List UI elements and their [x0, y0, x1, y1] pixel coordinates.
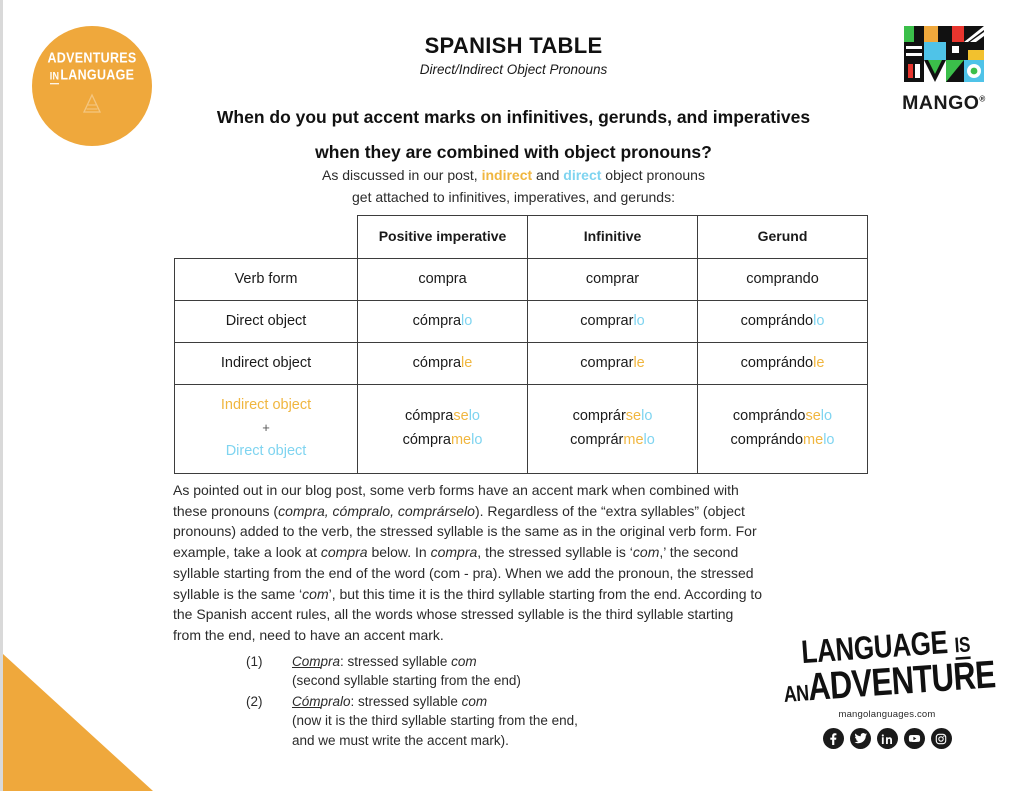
word-segment: lo	[813, 313, 824, 329]
example-note: (second syllable starting from the end)	[292, 671, 521, 690]
table-cell: comprando	[698, 258, 868, 300]
mango-word-text: MANGO	[902, 92, 979, 114]
word-segment: comprár	[570, 432, 623, 448]
word-segment: lo	[641, 408, 652, 424]
mango-wordmark: MANGO®	[890, 92, 998, 115]
table-cell: comprándoselocomprándomelo	[698, 384, 868, 473]
table-corner-cell	[175, 216, 358, 259]
word-segment: le	[813, 355, 824, 371]
table-cell: comprándole	[698, 342, 868, 384]
word-segment: le	[461, 355, 472, 371]
body-s3: below. In	[368, 544, 431, 560]
word-segment: comprar	[580, 355, 633, 371]
brand-line-2: ANADVENTURE	[782, 657, 994, 707]
row-label: Indirect object	[175, 342, 358, 384]
example-number: (2)	[246, 692, 292, 749]
brand-lockup: LANGUAGE IS ANADVENTURE mangolanguages.c…	[782, 639, 992, 749]
question-line-2: when they are combined with object prono…	[315, 142, 712, 162]
brand-tagline: LANGUAGE IS ANADVENTURE	[780, 625, 994, 708]
word-segment: comprar	[580, 313, 633, 329]
example-note-2: and we must write the accent mark).	[292, 731, 578, 750]
word-segment: me	[803, 432, 823, 448]
example-body: Compra: stressed syllable com(second syl…	[292, 652, 521, 690]
example-word: Cómpralo	[292, 694, 351, 709]
social-links	[782, 728, 992, 749]
word-segment: lo	[469, 408, 480, 424]
page-title: SPANISH TABLE	[3, 33, 1024, 59]
word-segment: cómpra	[413, 313, 461, 329]
word-segment: lo	[461, 313, 472, 329]
table-row-combined: Indirect object+Direct objectcómpraseloc…	[175, 384, 868, 473]
word-segment: cómpra	[413, 355, 461, 371]
page-subtitle: Direct/Indirect Object Pronouns	[3, 62, 1024, 77]
intro-paragraph: As discussed in our post, indirect and d…	[143, 165, 884, 208]
example-number: (1)	[246, 652, 292, 690]
example-item: (1)Compra: stressed syllable com(second …	[246, 652, 746, 690]
table-row: Direct objectcómpralocomprarlocomprándol…	[175, 300, 868, 342]
word-segment: se	[626, 408, 641, 424]
brand-website-url[interactable]: mangolanguages.com	[782, 709, 992, 720]
header-label: Positive imperative	[379, 228, 507, 244]
intro-indirect-keyword: indirect	[482, 167, 533, 183]
example-after: : stressed syllable	[351, 694, 462, 709]
registered-mark: ®	[979, 95, 985, 104]
twitter-icon[interactable]	[850, 728, 871, 749]
word-segment: cómpra	[405, 408, 453, 424]
word-segment: comprando	[746, 271, 819, 287]
word-segment: comprándo	[733, 408, 806, 424]
word-segment: comprár	[573, 408, 626, 424]
explanation-paragraph: As pointed out in our blog post, some ve…	[173, 480, 763, 646]
linkedin-icon[interactable]	[877, 728, 898, 749]
table-header-positive-imperative: Positive imperative	[358, 216, 528, 259]
label-plus: +	[262, 420, 270, 435]
table-cell: comprar	[528, 258, 698, 300]
table-cell: comprarle	[528, 342, 698, 384]
word-segment: se	[805, 408, 820, 424]
facebook-icon[interactable]	[823, 728, 844, 749]
table-body: Verb formcompracomprarcomprandoDirect ob…	[175, 258, 868, 473]
example-after: : stressed syllable	[340, 654, 451, 669]
corner-triangle-decoration	[3, 654, 153, 791]
intro-direct-keyword: direct	[563, 167, 601, 183]
label-indirect: Indirect object	[221, 397, 311, 413]
instagram-icon[interactable]	[931, 728, 952, 749]
table-header-infinitive: Infinitive	[528, 216, 698, 259]
intro-part-3: object pronouns	[601, 167, 705, 183]
word-segment: lo	[471, 432, 482, 448]
mountain-icon	[78, 93, 106, 120]
table-cell: comprarlo	[528, 300, 698, 342]
intro-line-2: get attached to infinitives, imperatives…	[352, 189, 675, 205]
word-segment: lo	[633, 313, 644, 329]
word-segment: comprar	[586, 271, 639, 287]
row-label-combined: Indirect object+Direct object	[175, 384, 358, 473]
table-cell: cómpralo	[358, 300, 528, 342]
body-s4: , the stressed syllable is ‘	[477, 544, 633, 560]
example-body: Cómpralo: stressed syllable com(now it i…	[292, 692, 578, 749]
table-cell: comprándolo	[698, 300, 868, 342]
row-label: Direct object	[175, 300, 358, 342]
body-i4: com	[633, 544, 659, 560]
row-label: Verb form	[175, 258, 358, 300]
body-i5: com	[302, 586, 328, 602]
example-first-line: Cómpralo: stressed syllable com	[292, 692, 578, 711]
youtube-icon[interactable]	[904, 728, 925, 749]
word-segment: se	[453, 408, 468, 424]
table-cell: cómprale	[358, 342, 528, 384]
examples-list: (1)Compra: stressed syllable com(second …	[246, 652, 746, 752]
body-i3: compra	[431, 544, 478, 560]
word-segment: me	[451, 432, 471, 448]
label-direct: Direct object	[226, 443, 307, 459]
example-syllable: com	[462, 694, 488, 709]
table-cell: compra	[358, 258, 528, 300]
header-label: Infinitive	[584, 228, 642, 244]
word-segment: lo	[644, 432, 655, 448]
example-syllable: com	[451, 654, 477, 669]
brand-an-word: AN	[783, 680, 809, 707]
table-cell: comprárselocomprármelo	[528, 384, 698, 473]
word-segment: comprándo	[731, 432, 804, 448]
header-label: Gerund	[758, 228, 808, 244]
example-word: Compra	[292, 654, 340, 669]
word-segment: comprándo	[741, 313, 814, 329]
example-item: (2)Cómpralo: stressed syllable com(now i…	[246, 692, 746, 749]
table-row: Verb formcompracomprarcomprando	[175, 258, 868, 300]
example-note: (now it is the third syllable starting f…	[292, 711, 578, 730]
intro-part-1: As discussed in our post,	[322, 167, 482, 183]
document-page: ADVENTURES INLANGUAGE	[0, 0, 1024, 791]
question-line-1: When do you put accent marks on infiniti…	[217, 107, 810, 127]
table-header-row: Positive imperative Infinitive Gerund	[175, 216, 868, 259]
table-row: Indirect objectcómpralecomprarlecompránd…	[175, 342, 868, 384]
intro-part-2: and	[532, 167, 563, 183]
word-segment: compra	[418, 271, 466, 287]
word-segment: comprándo	[741, 355, 814, 371]
body-i1: compra, cómpralo, comprárselo	[278, 503, 475, 519]
pronoun-table: Positive imperative Infinitive Gerund Ve…	[174, 215, 868, 474]
word-segment: lo	[823, 432, 834, 448]
body-i2: compra	[321, 544, 368, 560]
table-cell: cómpraselocómpramelo	[358, 384, 528, 473]
example-first-line: Compra: stressed syllable com	[292, 652, 521, 671]
word-segment: le	[633, 355, 644, 371]
word-segment: me	[623, 432, 643, 448]
word-segment: lo	[821, 408, 832, 424]
table-header-gerund: Gerund	[698, 216, 868, 259]
word-segment: cómpra	[403, 432, 451, 448]
main-question: When do you put accent marks on infiniti…	[123, 100, 904, 170]
